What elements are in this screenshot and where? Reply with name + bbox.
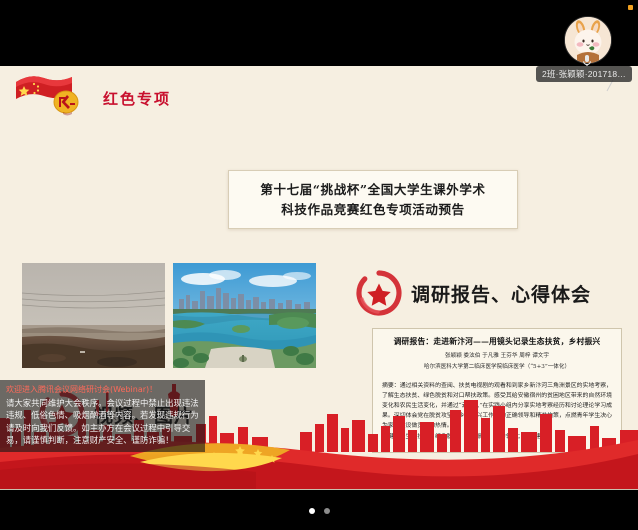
speaker-video-tile[interactable] bbox=[564, 16, 610, 62]
webinar-notice-banner: 欢迎进入腾讯会议网络研讨会(Webinar)！ 请大家共同维护大会秩序。会议过程… bbox=[0, 380, 205, 452]
before-photo bbox=[22, 263, 165, 368]
slide-title-line-2: 科技作品竞赛红色专项活动预告 bbox=[281, 200, 464, 219]
participant-name-tag: 2班·张颖颖·201718… bbox=[536, 66, 632, 82]
name-tag-pointer bbox=[604, 80, 614, 92]
page-dot-2[interactable] bbox=[324, 508, 330, 514]
notice-body: 请大家共同维护大会秩序。会议过程中禁止出现违法违规、低俗色情、吸烟酗酒等内容。若… bbox=[6, 397, 199, 447]
meeting-screen: 2班·张颖颖·201718… bbox=[0, 0, 638, 530]
page-title: 红色专项 bbox=[103, 88, 171, 109]
page-indicator bbox=[0, 508, 638, 514]
slide-title-plaque: 第十七届“挑战杯”全国大学生课外学术 科技作品竞赛红色专项活动预告 bbox=[228, 170, 518, 229]
recording-indicator-dot bbox=[628, 5, 633, 10]
after-photo bbox=[173, 263, 316, 368]
china-flag-party-emblem-icon bbox=[12, 72, 98, 118]
page-dot-1[interactable] bbox=[309, 508, 315, 514]
report-authors: 张颖颖 娄泫伯 于凡雅 王芬华 周梓 谭文宇 bbox=[382, 352, 612, 360]
shared-slide: 红色专项 第十七届“挑战杯”全国大学生课外学术 科技作品竞赛红色专项活动预告 bbox=[0, 66, 638, 490]
report-title: 调研报告：走进新汴河——用镜头记录生态扶贫，乡村振兴 bbox=[385, 336, 608, 346]
section-label-report: 调研报告、心得体会 bbox=[411, 280, 591, 307]
slide-title-line-1: 第十七届“挑战杯”全国大学生课外学术 bbox=[260, 180, 485, 199]
section-header-report: 调研报告、心得体会 bbox=[355, 269, 591, 317]
red-star-brush-circle-icon bbox=[355, 269, 403, 317]
notice-headline: 欢迎进入腾讯会议网络研讨会(Webinar)！ bbox=[6, 384, 199, 396]
